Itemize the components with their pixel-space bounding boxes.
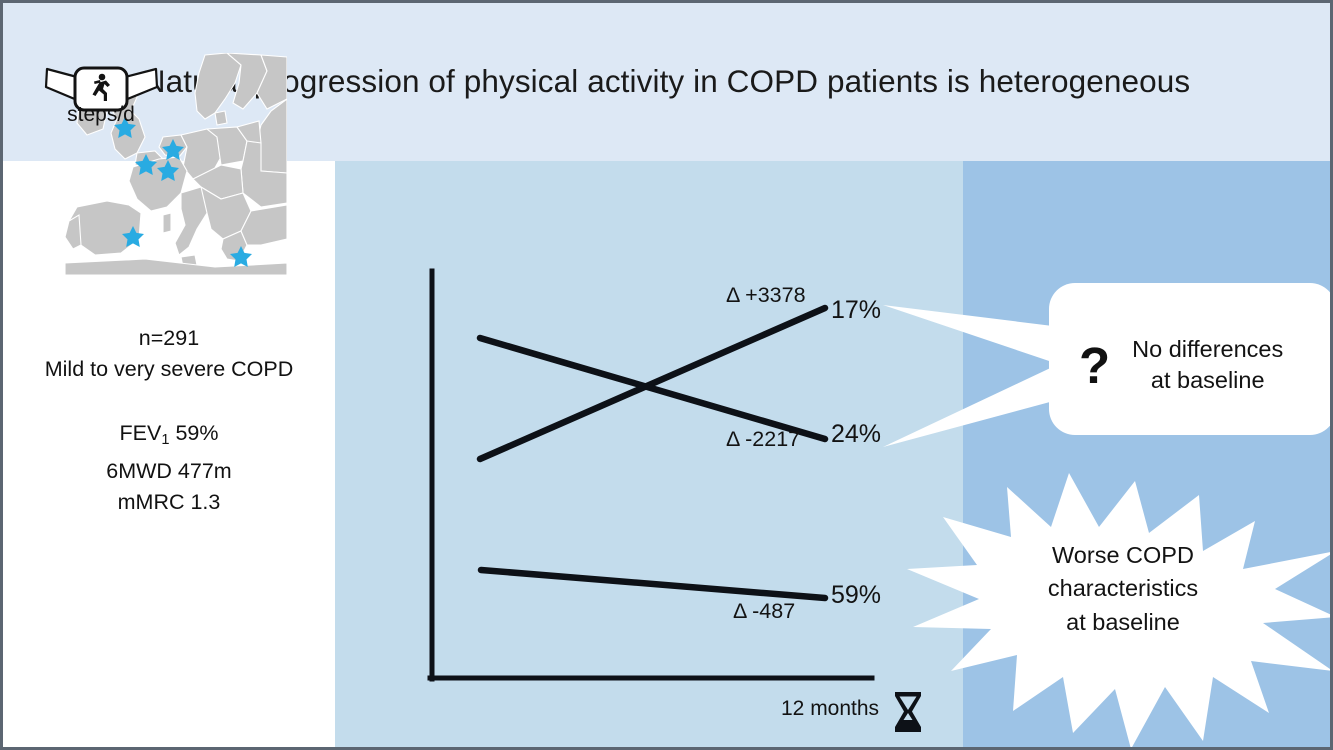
speech-tail-upper [883,305,1061,365]
delta-label-improvers: Δ +3378 [726,283,806,308]
speech-bubble-text: No differences at baseline [1132,334,1283,396]
endpoint-label-decliners: 24% [831,420,881,449]
delta-label-decliners: Δ -2217 [726,427,800,452]
endpoint-label-improvers: 17% [831,296,881,325]
burst-line-1: Worse COPD [988,539,1258,572]
stat-fev1: FEV1 59% [3,418,335,456]
graphical-abstract-poster: Natural progression of physical activity… [0,0,1333,750]
burst-line-3: at baseline [988,606,1258,639]
delta-label-stable: Δ -487 [733,599,795,624]
stat-6mwd: 6MWD 477m [3,456,335,487]
starburst-text: Worse COPD characteristics at baseline [988,539,1258,639]
speech-tail-lower [883,363,1061,447]
cohort-stats: n=291 Mild to very severe COPD FEV1 59% … [3,323,335,518]
series-line-stable [481,570,825,598]
y-axis-label: steps/d [44,103,158,127]
stat-mmrc: mMRC 1.3 [3,487,335,518]
series-line-decliners [480,338,825,439]
burst-line-2: characteristics [988,572,1258,605]
stat-severity: Mild to very severe COPD [3,354,335,385]
speech-line-1: No differences [1132,334,1283,365]
stat-fev1-prefix: FEV [120,421,162,445]
endpoint-label-stable: 59% [831,581,881,610]
speech-line-2: at baseline [1132,365,1283,396]
stat-sample-size: n=291 [3,323,335,354]
stat-fev1-suffix: 59% [169,421,218,445]
question-mark-icon: ? [1079,340,1110,391]
speech-bubble-content: ? No differences at baseline [1049,295,1333,435]
x-axis-label: 12 months [781,697,879,721]
activity-trajectory-chart [335,161,963,750]
